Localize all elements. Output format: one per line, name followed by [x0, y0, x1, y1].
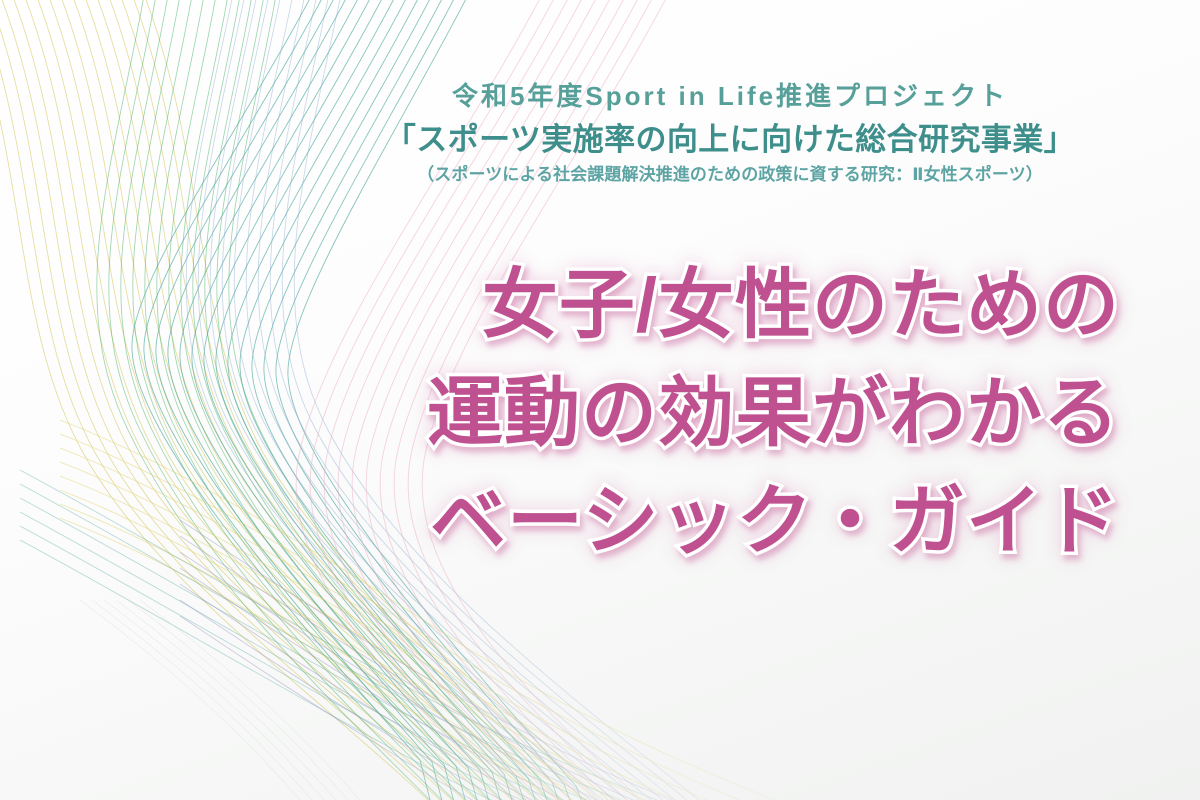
cover-page: 令和5年度Sport in Life推進プロジェクト 「スポーツ実施率の向上に向… — [0, 0, 1200, 800]
title-line-2: 運動の効果がわかる — [260, 360, 1120, 468]
title-line-3: ベーシック・ガイド — [260, 468, 1120, 576]
title-line-1: 女子/女性のための — [260, 252, 1120, 360]
page-title: 女子/女性のための 運動の効果がわかる ベーシック・ガイド — [260, 252, 1120, 576]
header-block: 令和5年度Sport in Life推進プロジェクト 「スポーツ実施率の向上に向… — [300, 82, 1160, 185]
project-line: 令和5年度Sport in Life推進プロジェクト — [300, 82, 1160, 112]
program-line: 「スポーツ実施率の向上に向けた総合研究事業」 — [300, 120, 1160, 160]
scope-line: （スポーツによる社会課題解決推進のための政策に資する研究：Ⅱ女性スポーツ） — [300, 164, 1160, 185]
